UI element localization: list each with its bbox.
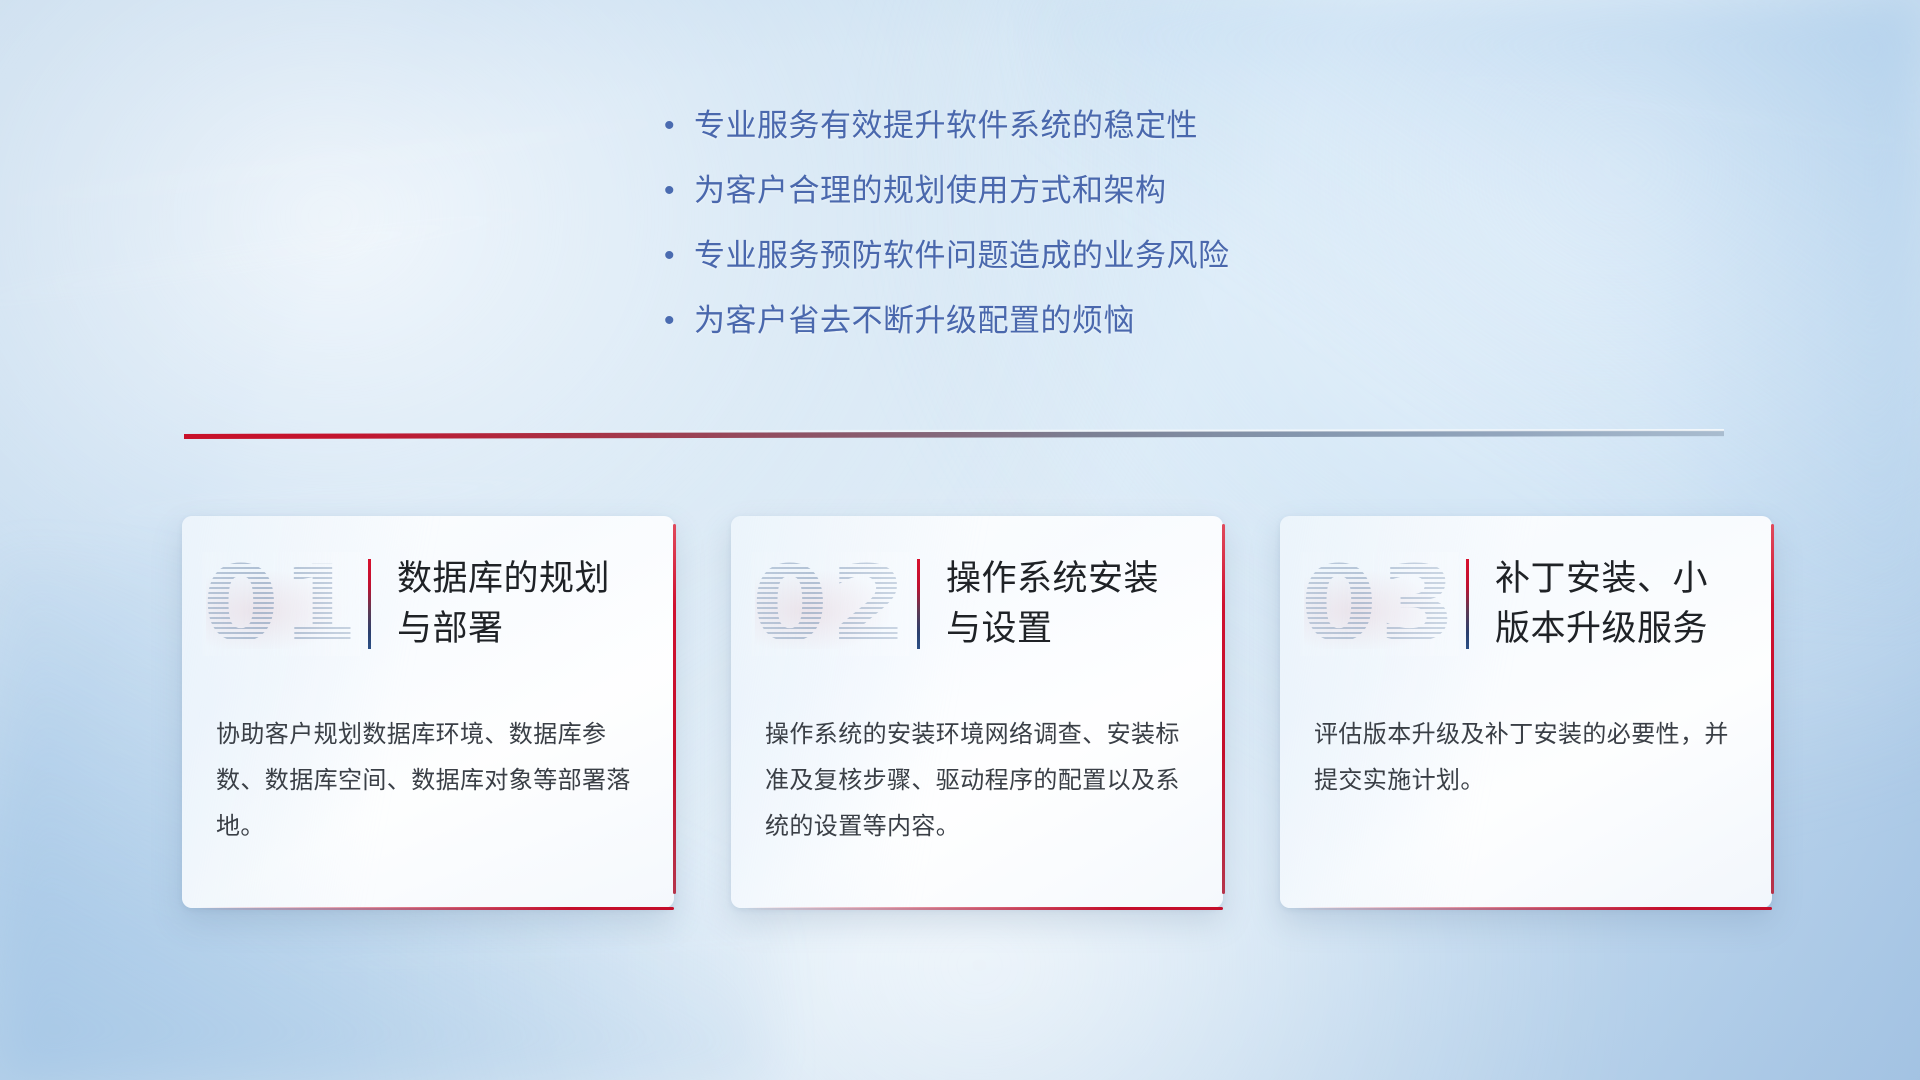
service-card-group: 01 数据库的规划与部署 协助客户规划数据库环境、数据库参数、数据库空间、数据库… <box>182 516 1772 908</box>
benefit-text: 为客户合理的规划使用方式和架构 <box>694 169 1167 213</box>
card-description: 评估版本升级及补丁安装的必要性，并提交实施计划。 <box>1314 712 1744 804</box>
card-number: 03 <box>1300 552 1458 656</box>
card-header: 03 补丁安装、小版本升级服务 <box>1280 516 1772 692</box>
section-divider <box>184 424 1724 450</box>
card-header: 01 数据库的规划与部署 <box>182 516 674 692</box>
list-item: • 为客户合理的规划使用方式和架构 <box>660 169 1420 234</box>
card-title-accent-bar <box>1466 559 1469 649</box>
list-item: • 为客户省去不断升级配置的烦恼 <box>660 299 1420 364</box>
card-title-accent-bar <box>368 559 371 649</box>
benefits-list: • 专业服务有效提升软件系统的稳定性 • 为客户合理的规划使用方式和架构 • 专… <box>660 104 1420 364</box>
bullet-dot-icon: • <box>660 299 694 343</box>
card-number: 01 <box>202 552 360 656</box>
card-title: 操作系统安装与设置 <box>946 554 1186 654</box>
card-number-watermark: 02 <box>749 545 911 663</box>
card-accent-edge-bottom <box>1294 907 1772 910</box>
card-accent-edge-bottom <box>745 907 1223 910</box>
benefit-text: 专业服务有效提升软件系统的稳定性 <box>694 104 1198 148</box>
bullet-dot-icon: • <box>660 104 694 148</box>
list-item: • 专业服务有效提升软件系统的稳定性 <box>660 104 1420 169</box>
card-number-watermark: 01 <box>200 545 362 663</box>
benefit-text: 专业服务预防软件问题造成的业务风险 <box>694 234 1230 278</box>
card-title: 补丁安装、小版本升级服务 <box>1495 554 1735 654</box>
benefit-text: 为客户省去不断升级配置的烦恼 <box>694 299 1135 343</box>
card-title: 数据库的规划与部署 <box>397 554 637 654</box>
bullet-dot-icon: • <box>660 169 694 213</box>
card-description: 协助客户规划数据库环境、数据库参数、数据库空间、数据库对象等部署落地。 <box>216 712 646 850</box>
service-card[interactable]: 01 数据库的规划与部署 协助客户规划数据库环境、数据库参数、数据库空间、数据库… <box>182 516 674 908</box>
card-number: 02 <box>751 552 909 656</box>
card-accent-edge-bottom <box>196 907 674 910</box>
card-title-accent-bar <box>917 559 920 649</box>
list-item: • 专业服务预防软件问题造成的业务风险 <box>660 234 1420 299</box>
card-header: 02 操作系统安装与设置 <box>731 516 1223 692</box>
card-number-watermark: 03 <box>1298 545 1460 663</box>
card-description: 操作系统的安装环境网络调查、安装标准及复核步骤、驱动程序的配置以及系统的设置等内… <box>765 712 1195 850</box>
service-card[interactable]: 02 操作系统安装与设置 操作系统的安装环境网络调查、安装标准及复核步骤、驱动程… <box>731 516 1223 908</box>
bullet-dot-icon: • <box>660 234 694 278</box>
service-card[interactable]: 03 补丁安装、小版本升级服务 评估版本升级及补丁安装的必要性，并提交实施计划。 <box>1280 516 1772 908</box>
